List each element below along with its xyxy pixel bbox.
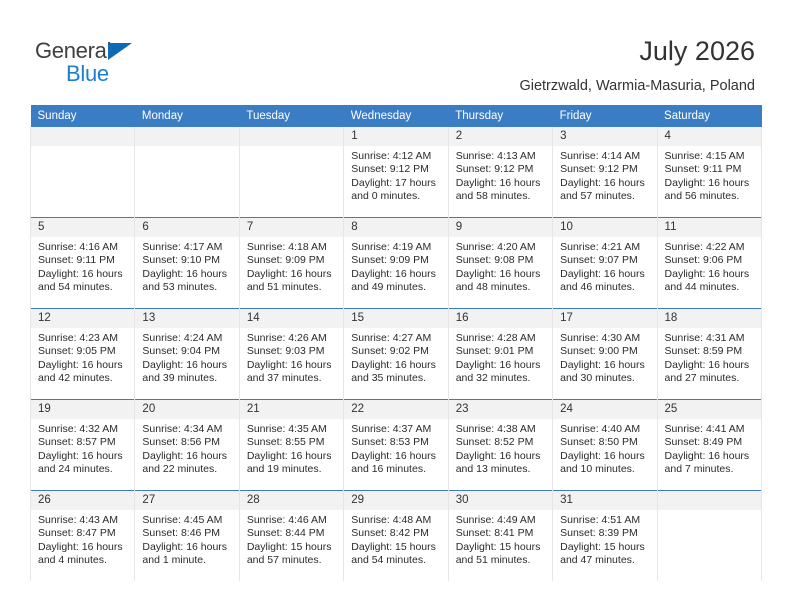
calendar-day-cell[interactable]: 18Sunrise: 4:31 AMSunset: 8:59 PMDayligh… <box>657 309 761 400</box>
calendar-day-cell[interactable]: 15Sunrise: 4:27 AMSunset: 9:02 PMDayligh… <box>344 309 448 400</box>
sunrise-text: Sunrise: 4:27 AM <box>351 332 441 345</box>
day-number: 29 <box>344 491 447 510</box>
day-number: 30 <box>449 491 552 510</box>
sun-info: Sunrise: 4:45 AMSunset: 8:46 PMDaylight:… <box>135 510 238 567</box>
day-number: 21 <box>240 400 343 419</box>
daylight-text: Daylight: 17 hours and 0 minutes. <box>351 177 441 204</box>
sunrise-text: Sunrise: 4:40 AM <box>560 423 650 436</box>
daylight-text: Daylight: 16 hours and 42 minutes. <box>38 359 128 386</box>
sunrise-text: Sunrise: 4:28 AM <box>456 332 546 345</box>
sunset-text: Sunset: 8:50 PM <box>560 436 650 449</box>
sunrise-text: Sunrise: 4:16 AM <box>38 241 128 254</box>
daylight-text: Daylight: 15 hours and 47 minutes. <box>560 541 650 568</box>
daylight-text: Daylight: 16 hours and 39 minutes. <box>142 359 232 386</box>
sunrise-text: Sunrise: 4:21 AM <box>560 241 650 254</box>
sun-info: Sunrise: 4:30 AMSunset: 9:00 PMDaylight:… <box>553 328 656 385</box>
daylight-text: Daylight: 16 hours and 1 minute. <box>142 541 232 568</box>
sunrise-text: Sunrise: 4:19 AM <box>351 241 441 254</box>
calendar-day-cell[interactable]: 29Sunrise: 4:48 AMSunset: 8:42 PMDayligh… <box>344 491 448 582</box>
day-number: 31 <box>553 491 656 510</box>
day-number: 9 <box>449 218 552 237</box>
sunrise-text: Sunrise: 4:14 AM <box>560 150 650 163</box>
sunrise-text: Sunrise: 4:26 AM <box>247 332 337 345</box>
sunrise-text: Sunrise: 4:43 AM <box>38 514 128 527</box>
daylight-text: Daylight: 16 hours and 19 minutes. <box>247 450 337 477</box>
location-subtitle: Gietrzwald, Warmia-Masuria, Poland <box>519 78 755 94</box>
sun-info: Sunrise: 4:41 AMSunset: 8:49 PMDaylight:… <box>658 419 761 476</box>
sunrise-text: Sunrise: 4:46 AM <box>247 514 337 527</box>
calendar-day-cell-empty <box>135 127 239 218</box>
sunset-text: Sunset: 8:39 PM <box>560 527 650 540</box>
day-number <box>31 127 134 146</box>
calendar-day-cell[interactable]: 11Sunrise: 4:22 AMSunset: 9:06 PMDayligh… <box>657 218 761 309</box>
weekday-header-saturday: Saturday <box>657 105 761 127</box>
calendar-day-cell[interactable]: 27Sunrise: 4:45 AMSunset: 8:46 PMDayligh… <box>135 491 239 582</box>
daylight-text: Daylight: 15 hours and 54 minutes. <box>351 541 441 568</box>
sunset-text: Sunset: 9:07 PM <box>560 254 650 267</box>
daylight-text: Daylight: 15 hours and 51 minutes. <box>456 541 546 568</box>
calendar-day-cell[interactable]: 2Sunrise: 4:13 AMSunset: 9:12 PMDaylight… <box>448 127 552 218</box>
daylight-text: Daylight: 16 hours and 53 minutes. <box>142 268 232 295</box>
weekday-header-wednesday: Wednesday <box>344 105 448 127</box>
sunrise-text: Sunrise: 4:31 AM <box>665 332 755 345</box>
daylight-text: Daylight: 16 hours and 13 minutes. <box>456 450 546 477</box>
calendar-day-cell-empty <box>239 127 343 218</box>
sunset-text: Sunset: 8:44 PM <box>247 527 337 540</box>
sunrise-text: Sunrise: 4:51 AM <box>560 514 650 527</box>
calendar-day-cell[interactable]: 9Sunrise: 4:20 AMSunset: 9:08 PMDaylight… <box>448 218 552 309</box>
day-number: 18 <box>658 309 761 328</box>
sunset-text: Sunset: 9:10 PM <box>142 254 232 267</box>
sun-info: Sunrise: 4:22 AMSunset: 9:06 PMDaylight:… <box>658 237 761 294</box>
daylight-text: Daylight: 16 hours and 58 minutes. <box>456 177 546 204</box>
day-number: 4 <box>658 127 761 146</box>
sunset-text: Sunset: 9:03 PM <box>247 345 337 358</box>
weekday-header-thursday: Thursday <box>448 105 552 127</box>
day-number: 13 <box>135 309 238 328</box>
calendar-day-cell[interactable]: 20Sunrise: 4:34 AMSunset: 8:56 PMDayligh… <box>135 400 239 491</box>
sunrise-text: Sunrise: 4:41 AM <box>665 423 755 436</box>
sunset-text: Sunset: 9:12 PM <box>351 163 441 176</box>
sunrise-text: Sunrise: 4:24 AM <box>142 332 232 345</box>
sunset-text: Sunset: 8:42 PM <box>351 527 441 540</box>
daylight-text: Daylight: 16 hours and 32 minutes. <box>456 359 546 386</box>
sunset-text: Sunset: 9:01 PM <box>456 345 546 358</box>
sun-info: Sunrise: 4:24 AMSunset: 9:04 PMDaylight:… <box>135 328 238 385</box>
daylight-text: Daylight: 16 hours and 22 minutes. <box>142 450 232 477</box>
day-number: 7 <box>240 218 343 237</box>
daylight-text: Daylight: 16 hours and 35 minutes. <box>351 359 441 386</box>
calendar-day-cell-empty <box>31 127 135 218</box>
sun-info: Sunrise: 4:23 AMSunset: 9:05 PMDaylight:… <box>31 328 134 385</box>
sunset-text: Sunset: 9:06 PM <box>665 254 755 267</box>
daylight-text: Daylight: 16 hours and 10 minutes. <box>560 450 650 477</box>
general-blue-logo[interactable]: General Blue <box>35 38 165 86</box>
sun-info: Sunrise: 4:48 AMSunset: 8:42 PMDaylight:… <box>344 510 447 567</box>
calendar-day-cell[interactable]: 10Sunrise: 4:21 AMSunset: 9:07 PMDayligh… <box>553 218 657 309</box>
daylight-text: Daylight: 16 hours and 30 minutes. <box>560 359 650 386</box>
calendar-day-cell[interactable]: 13Sunrise: 4:24 AMSunset: 9:04 PMDayligh… <box>135 309 239 400</box>
day-number: 23 <box>449 400 552 419</box>
day-number: 11 <box>658 218 761 237</box>
sun-info: Sunrise: 4:43 AMSunset: 8:47 PMDaylight:… <box>31 510 134 567</box>
calendar-day-cell[interactable]: 24Sunrise: 4:40 AMSunset: 8:50 PMDayligh… <box>553 400 657 491</box>
calendar-day-cell[interactable]: 8Sunrise: 4:19 AMSunset: 9:09 PMDaylight… <box>344 218 448 309</box>
calendar-week-row: 26Sunrise: 4:43 AMSunset: 8:47 PMDayligh… <box>31 491 762 582</box>
sunset-text: Sunset: 9:08 PM <box>456 254 546 267</box>
day-number: 27 <box>135 491 238 510</box>
calendar-day-cell-empty <box>657 491 761 582</box>
daylight-text: Daylight: 16 hours and 7 minutes. <box>665 450 755 477</box>
sun-info: Sunrise: 4:31 AMSunset: 8:59 PMDaylight:… <box>658 328 761 385</box>
day-number: 16 <box>449 309 552 328</box>
calendar-day-cell[interactable]: 30Sunrise: 4:49 AMSunset: 8:41 PMDayligh… <box>448 491 552 582</box>
sun-info: Sunrise: 4:32 AMSunset: 8:57 PMDaylight:… <box>31 419 134 476</box>
sun-info: Sunrise: 4:20 AMSunset: 9:08 PMDaylight:… <box>449 237 552 294</box>
daylight-text: Daylight: 16 hours and 49 minutes. <box>351 268 441 295</box>
day-number: 14 <box>240 309 343 328</box>
calendar-day-cell[interactable]: 19Sunrise: 4:32 AMSunset: 8:57 PMDayligh… <box>31 400 135 491</box>
calendar-day-cell[interactable]: 23Sunrise: 4:38 AMSunset: 8:52 PMDayligh… <box>448 400 552 491</box>
sun-info: Sunrise: 4:14 AMSunset: 9:12 PMDaylight:… <box>553 146 656 203</box>
sunrise-text: Sunrise: 4:13 AM <box>456 150 546 163</box>
day-number: 5 <box>31 218 134 237</box>
daylight-text: Daylight: 16 hours and 54 minutes. <box>38 268 128 295</box>
sunset-text: Sunset: 9:09 PM <box>247 254 337 267</box>
day-number: 26 <box>31 491 134 510</box>
day-number: 25 <box>658 400 761 419</box>
sunset-text: Sunset: 9:11 PM <box>38 254 128 267</box>
daylight-text: Daylight: 16 hours and 48 minutes. <box>456 268 546 295</box>
day-number: 1 <box>344 127 447 146</box>
sun-info: Sunrise: 4:18 AMSunset: 9:09 PMDaylight:… <box>240 237 343 294</box>
sunrise-text: Sunrise: 4:37 AM <box>351 423 441 436</box>
sun-info: Sunrise: 4:51 AMSunset: 8:39 PMDaylight:… <box>553 510 656 567</box>
sunset-text: Sunset: 8:55 PM <box>247 436 337 449</box>
calendar-day-cell[interactable]: 26Sunrise: 4:43 AMSunset: 8:47 PMDayligh… <box>31 491 135 582</box>
calendar-day-cell[interactable]: 4Sunrise: 4:15 AMSunset: 9:11 PMDaylight… <box>657 127 761 218</box>
day-number <box>135 127 238 146</box>
sunset-text: Sunset: 9:12 PM <box>560 163 650 176</box>
sunrise-text: Sunrise: 4:20 AM <box>456 241 546 254</box>
calendar-day-cell[interactable]: 1Sunrise: 4:12 AMSunset: 9:12 PMDaylight… <box>344 127 448 218</box>
daylight-text: Daylight: 16 hours and 56 minutes. <box>665 177 755 204</box>
sun-info: Sunrise: 4:12 AMSunset: 9:12 PMDaylight:… <box>344 146 447 203</box>
sunset-text: Sunset: 8:41 PM <box>456 527 546 540</box>
sunrise-text: Sunrise: 4:35 AM <box>247 423 337 436</box>
day-number: 2 <box>449 127 552 146</box>
day-number: 22 <box>344 400 447 419</box>
sun-info: Sunrise: 4:46 AMSunset: 8:44 PMDaylight:… <box>240 510 343 567</box>
sun-info: Sunrise: 4:13 AMSunset: 9:12 PMDaylight:… <box>449 146 552 203</box>
sunset-text: Sunset: 9:00 PM <box>560 345 650 358</box>
day-number: 6 <box>135 218 238 237</box>
calendar-day-cell[interactable]: 14Sunrise: 4:26 AMSunset: 9:03 PMDayligh… <box>239 309 343 400</box>
sunset-text: Sunset: 9:11 PM <box>665 163 755 176</box>
sunrise-text: Sunrise: 4:15 AM <box>665 150 755 163</box>
sunrise-text: Sunrise: 4:17 AM <box>142 241 232 254</box>
sunrise-text: Sunrise: 4:30 AM <box>560 332 650 345</box>
weekday-header-monday: Monday <box>135 105 239 127</box>
daylight-text: Daylight: 16 hours and 27 minutes. <box>665 359 755 386</box>
sunset-text: Sunset: 9:02 PM <box>351 345 441 358</box>
calendar-day-cell[interactable]: 25Sunrise: 4:41 AMSunset: 8:49 PMDayligh… <box>657 400 761 491</box>
sunset-text: Sunset: 9:12 PM <box>456 163 546 176</box>
calendar-day-cell[interactable]: 22Sunrise: 4:37 AMSunset: 8:53 PMDayligh… <box>344 400 448 491</box>
day-number: 28 <box>240 491 343 510</box>
sunset-text: Sunset: 8:59 PM <box>665 345 755 358</box>
day-number: 19 <box>31 400 134 419</box>
sunset-text: Sunset: 8:56 PM <box>142 436 232 449</box>
sunrise-text: Sunrise: 4:12 AM <box>351 150 441 163</box>
logo-text-blue: Blue <box>66 61 109 87</box>
sunrise-text: Sunrise: 4:49 AM <box>456 514 546 527</box>
daylight-text: Daylight: 16 hours and 44 minutes. <box>665 268 755 295</box>
calendar-day-cell[interactable]: 16Sunrise: 4:28 AMSunset: 9:01 PMDayligh… <box>448 309 552 400</box>
calendar-header-row: Sunday Monday Tuesday Wednesday Thursday… <box>31 105 762 127</box>
sunrise-text: Sunrise: 4:22 AM <box>665 241 755 254</box>
calendar-day-cell[interactable]: 5Sunrise: 4:16 AMSunset: 9:11 PMDaylight… <box>31 218 135 309</box>
sunrise-text: Sunrise: 4:32 AM <box>38 423 128 436</box>
sun-info: Sunrise: 4:34 AMSunset: 8:56 PMDaylight:… <box>135 419 238 476</box>
daylight-text: Daylight: 16 hours and 51 minutes. <box>247 268 337 295</box>
daylight-text: Daylight: 15 hours and 57 minutes. <box>247 541 337 568</box>
sun-info: Sunrise: 4:26 AMSunset: 9:03 PMDaylight:… <box>240 328 343 385</box>
sunset-text: Sunset: 8:47 PM <box>38 527 128 540</box>
sunrise-text: Sunrise: 4:34 AM <box>142 423 232 436</box>
calendar-body: 1Sunrise: 4:12 AMSunset: 9:12 PMDaylight… <box>31 127 762 581</box>
calendar-day-cell[interactable]: 7Sunrise: 4:18 AMSunset: 9:09 PMDaylight… <box>239 218 343 309</box>
daylight-text: Daylight: 16 hours and 46 minutes. <box>560 268 650 295</box>
sunset-text: Sunset: 9:09 PM <box>351 254 441 267</box>
day-number <box>240 127 343 146</box>
calendar-week-row: 12Sunrise: 4:23 AMSunset: 9:05 PMDayligh… <box>31 309 762 400</box>
sunset-text: Sunset: 8:52 PM <box>456 436 546 449</box>
sun-info: Sunrise: 4:40 AMSunset: 8:50 PMDaylight:… <box>553 419 656 476</box>
daylight-text: Daylight: 16 hours and 37 minutes. <box>247 359 337 386</box>
sun-info: Sunrise: 4:35 AMSunset: 8:55 PMDaylight:… <box>240 419 343 476</box>
page-header: General Blue July 2026 Gietrzwald, Warmi… <box>0 0 792 98</box>
sun-info: Sunrise: 4:21 AMSunset: 9:07 PMDaylight:… <box>553 237 656 294</box>
calendar-week-row: 19Sunrise: 4:32 AMSunset: 8:57 PMDayligh… <box>31 400 762 491</box>
day-number: 24 <box>553 400 656 419</box>
sun-info: Sunrise: 4:15 AMSunset: 9:11 PMDaylight:… <box>658 146 761 203</box>
day-number: 3 <box>553 127 656 146</box>
sunset-text: Sunset: 8:53 PM <box>351 436 441 449</box>
sunset-text: Sunset: 8:49 PM <box>665 436 755 449</box>
daylight-text: Daylight: 16 hours and 24 minutes. <box>38 450 128 477</box>
calendar-day-cell[interactable]: 21Sunrise: 4:35 AMSunset: 8:55 PMDayligh… <box>239 400 343 491</box>
sunrise-text: Sunrise: 4:45 AM <box>142 514 232 527</box>
calendar-day-cell[interactable]: 6Sunrise: 4:17 AMSunset: 9:10 PMDaylight… <box>135 218 239 309</box>
sun-info: Sunrise: 4:27 AMSunset: 9:02 PMDaylight:… <box>344 328 447 385</box>
sun-info: Sunrise: 4:38 AMSunset: 8:52 PMDaylight:… <box>449 419 552 476</box>
sunset-text: Sunset: 8:46 PM <box>142 527 232 540</box>
sunrise-text: Sunrise: 4:23 AM <box>38 332 128 345</box>
calendar-day-cell[interactable]: 3Sunrise: 4:14 AMSunset: 9:12 PMDaylight… <box>553 127 657 218</box>
weekday-header-friday: Friday <box>553 105 657 127</box>
sunset-text: Sunset: 9:04 PM <box>142 345 232 358</box>
triangle-icon <box>108 43 132 60</box>
sun-info: Sunrise: 4:17 AMSunset: 9:10 PMDaylight:… <box>135 237 238 294</box>
sunrise-text: Sunrise: 4:18 AM <box>247 241 337 254</box>
daylight-text: Daylight: 16 hours and 16 minutes. <box>351 450 441 477</box>
weekday-header-sunday: Sunday <box>31 105 135 127</box>
sun-info: Sunrise: 4:16 AMSunset: 9:11 PMDaylight:… <box>31 237 134 294</box>
calendar-day-cell[interactable]: 28Sunrise: 4:46 AMSunset: 8:44 PMDayligh… <box>239 491 343 582</box>
sun-info: Sunrise: 4:49 AMSunset: 8:41 PMDaylight:… <box>449 510 552 567</box>
calendar-week-row: 1Sunrise: 4:12 AMSunset: 9:12 PMDaylight… <box>31 127 762 218</box>
calendar-day-cell[interactable]: 17Sunrise: 4:30 AMSunset: 9:00 PMDayligh… <box>553 309 657 400</box>
calendar-table: Sunday Monday Tuesday Wednesday Thursday… <box>30 105 762 581</box>
sunset-text: Sunset: 8:57 PM <box>38 436 128 449</box>
sunset-text: Sunset: 9:05 PM <box>38 345 128 358</box>
day-number: 20 <box>135 400 238 419</box>
sunrise-text: Sunrise: 4:38 AM <box>456 423 546 436</box>
day-number <box>658 491 761 510</box>
sunrise-text: Sunrise: 4:48 AM <box>351 514 441 527</box>
day-number: 12 <box>31 309 134 328</box>
calendar-page: General Blue July 2026 Gietrzwald, Warmi… <box>0 0 792 612</box>
sun-info: Sunrise: 4:37 AMSunset: 8:53 PMDaylight:… <box>344 419 447 476</box>
sun-info: Sunrise: 4:19 AMSunset: 9:09 PMDaylight:… <box>344 237 447 294</box>
calendar-week-row: 5Sunrise: 4:16 AMSunset: 9:11 PMDaylight… <box>31 218 762 309</box>
sun-info: Sunrise: 4:28 AMSunset: 9:01 PMDaylight:… <box>449 328 552 385</box>
calendar-day-cell[interactable]: 31Sunrise: 4:51 AMSunset: 8:39 PMDayligh… <box>553 491 657 582</box>
page-title: July 2026 <box>639 36 755 67</box>
calendar-day-cell[interactable]: 12Sunrise: 4:23 AMSunset: 9:05 PMDayligh… <box>31 309 135 400</box>
day-number: 10 <box>553 218 656 237</box>
weekday-header-tuesday: Tuesday <box>239 105 343 127</box>
day-number: 17 <box>553 309 656 328</box>
day-number: 15 <box>344 309 447 328</box>
daylight-text: Daylight: 16 hours and 4 minutes. <box>38 541 128 568</box>
daylight-text: Daylight: 16 hours and 57 minutes. <box>560 177 650 204</box>
day-number: 8 <box>344 218 447 237</box>
